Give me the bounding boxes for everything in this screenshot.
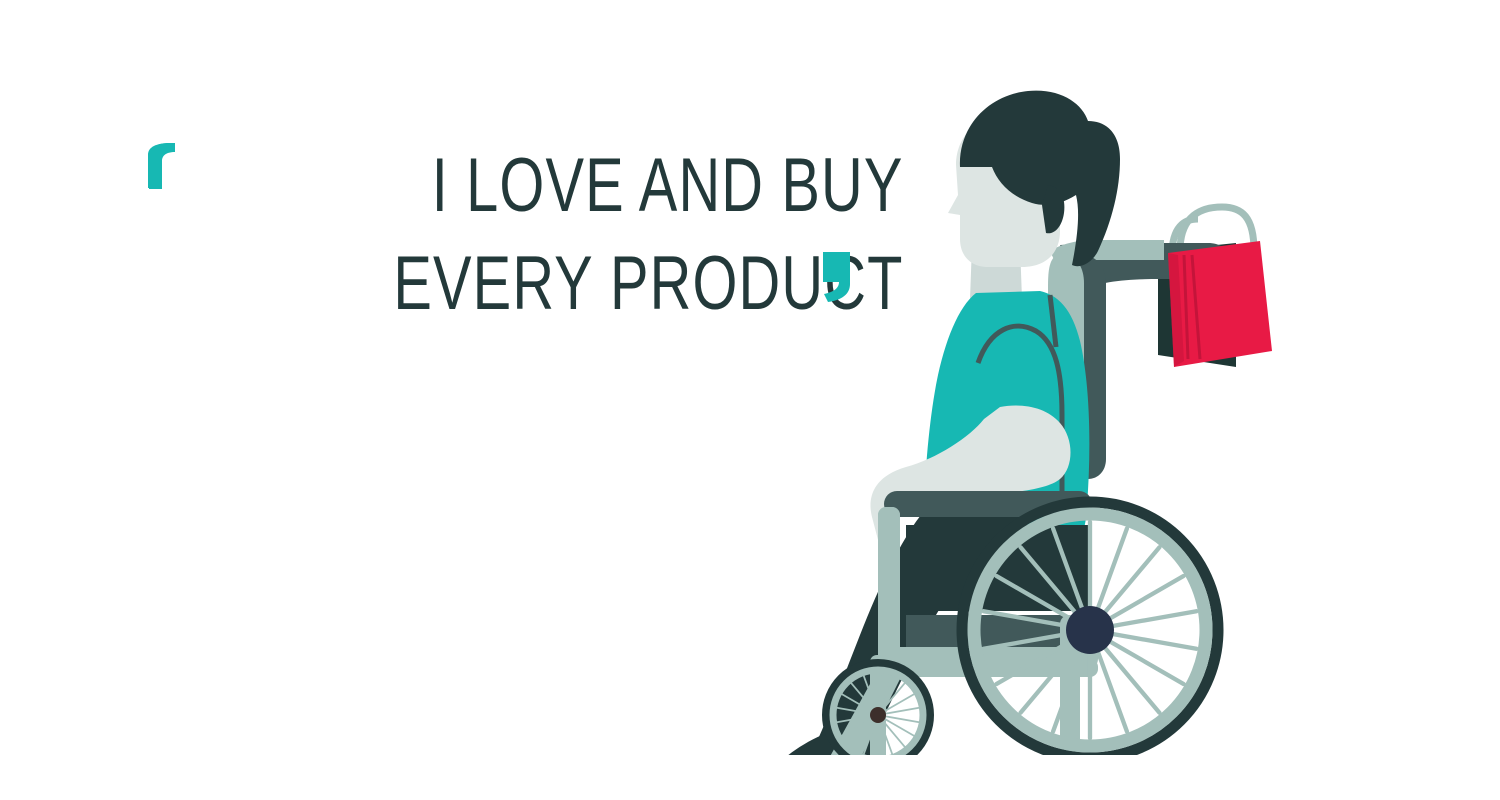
wheelchair-shopper-illustration — [760, 55, 1320, 755]
caster-wheel — [826, 663, 930, 755]
open-quote-icon — [145, 143, 179, 189]
wheel-hub — [1066, 606, 1114, 654]
quote-block: I LOVE AND BUY EVERY PRODUCT — [0, 118, 880, 338]
red-shopping-bag — [1168, 241, 1272, 367]
testimonial-canvas: I LOVE AND BUY EVERY PRODUCT — [0, 0, 1500, 800]
